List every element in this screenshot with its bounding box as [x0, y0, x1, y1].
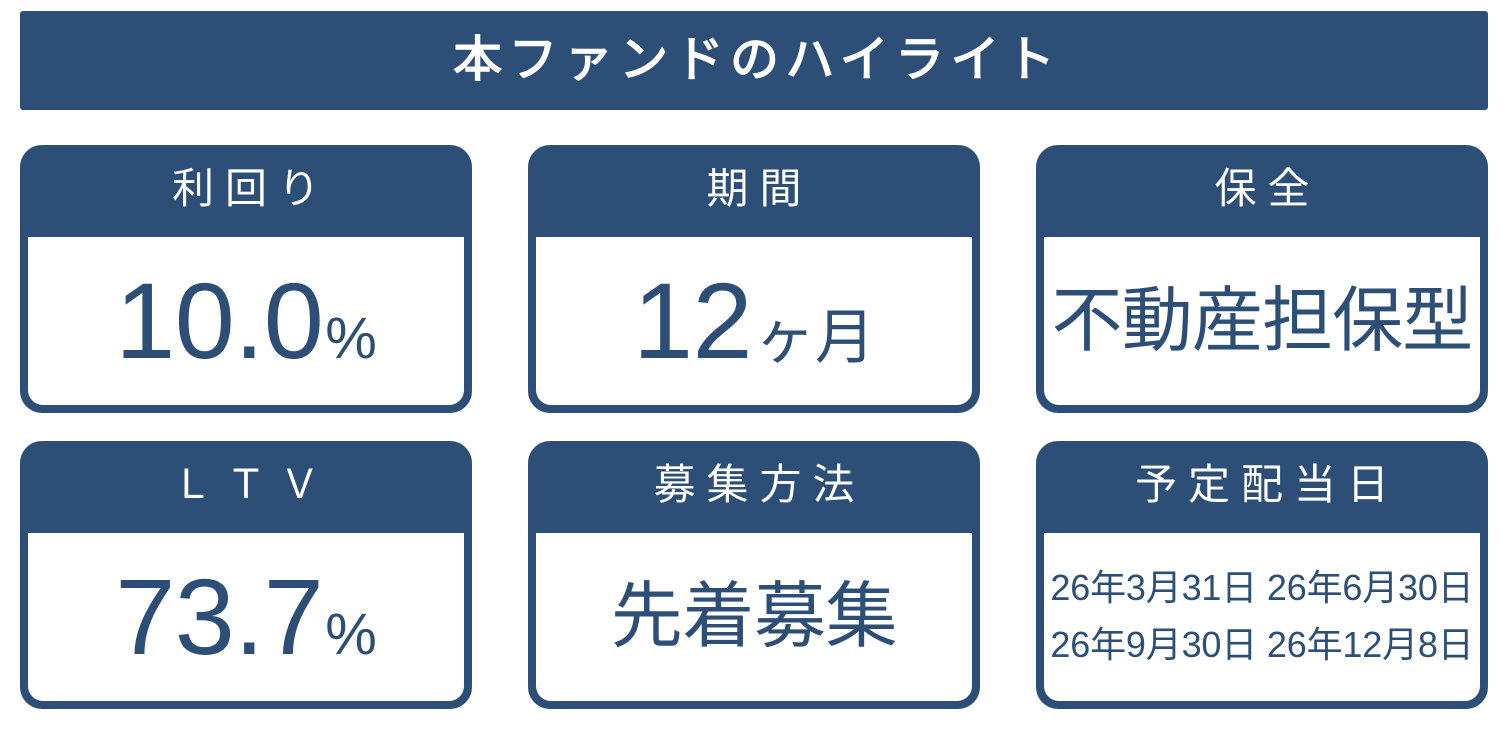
card-header-label: ＬＴＶ — [159, 465, 333, 505]
value-suffix-percent: % — [325, 606, 377, 664]
value-suffix-months: ヶ月 — [755, 308, 875, 368]
card-body-ltv: 73.7 % — [28, 533, 464, 701]
highlight-card-security: 保全 不動産担保型 — [1036, 145, 1488, 413]
card-header-ltv: ＬＴＶ — [20, 441, 472, 533]
card-header-label: 予定配当日 — [1124, 464, 1400, 506]
page-title: 本ファンドのハイライト — [447, 36, 1061, 85]
value-row: 12 ヶ月 — [633, 267, 875, 375]
dividend-date-list: 26年3月31日 26年6月30日 26年9月30日 26年12月8日 — [1044, 569, 1480, 665]
value-row: 73.7 % — [115, 563, 377, 671]
card-header-application-method: 募集方法 — [528, 441, 980, 533]
card-body-yield: 10.0 % — [28, 237, 464, 405]
card-header-label: 利回り — [161, 168, 331, 210]
value-main: 73.7 — [115, 563, 323, 671]
card-header-scheduled-dividend-dates: 予定配当日 — [1036, 441, 1488, 533]
highlight-card-period: 期間 12 ヶ月 — [528, 145, 980, 413]
card-header-security: 保全 — [1036, 145, 1488, 237]
highlight-card-yield: 利回り 10.0 % — [20, 145, 472, 413]
fund-highlights-page: 本ファンドのハイライト 利回り 10.0 % 期間 12 ヶ月 — [0, 0, 1508, 732]
card-body-scheduled-dividend-dates: 26年3月31日 26年6月30日 26年9月30日 26年12月8日 — [1044, 533, 1480, 701]
value-main: 12 — [633, 267, 752, 375]
dividend-date-line: 26年3月31日 26年6月30日 — [1050, 569, 1473, 608]
value-text: 不動産担保型 — [1052, 286, 1473, 357]
card-header-period: 期間 — [528, 145, 980, 237]
highlight-card-grid: 利回り 10.0 % 期間 12 ヶ月 — [20, 145, 1488, 721]
value-main: 10.0 — [115, 267, 323, 375]
card-header-label: 募集方法 — [643, 464, 866, 506]
highlight-card-ltv: ＬＴＶ 73.7 % — [20, 441, 472, 709]
card-header-label: 期間 — [696, 168, 813, 210]
card-header-label: 保全 — [1204, 168, 1321, 210]
value-suffix-percent: % — [325, 310, 377, 368]
card-body-security: 不動産担保型 — [1044, 237, 1480, 405]
highlight-card-application-method: 募集方法 先着募集 — [528, 441, 980, 709]
dividend-date-line: 26年9月30日 26年12月8日 — [1050, 626, 1473, 665]
card-header-yield: 利回り — [20, 145, 472, 237]
card-body-application-method: 先着募集 — [536, 533, 972, 701]
card-body-period: 12 ヶ月 — [536, 237, 972, 405]
value-text: 先着募集 — [611, 581, 898, 653]
value-row: 10.0 % — [115, 267, 377, 375]
page-title-banner: 本ファンドのハイライト — [20, 11, 1488, 110]
highlight-card-scheduled-dividend-dates: 予定配当日 26年3月31日 26年6月30日 26年9月30日 26年12月8… — [1036, 441, 1488, 709]
